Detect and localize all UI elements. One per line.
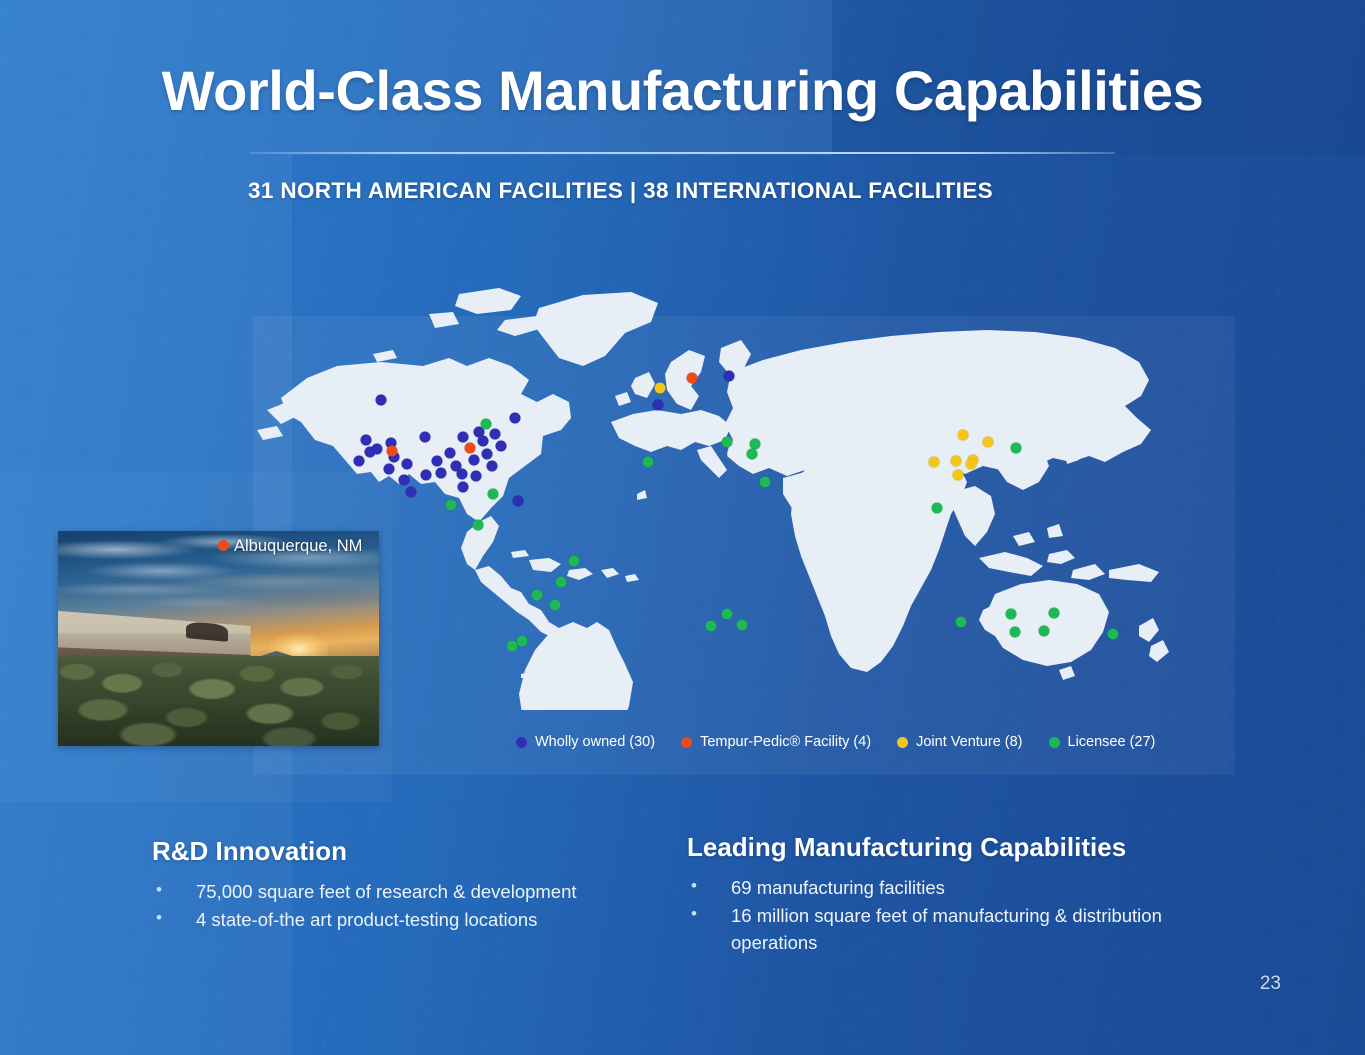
facility-dot <box>458 481 469 492</box>
manufacturing-capabilities-column: Leading Manufacturing Capabilities 69 ma… <box>687 832 1207 958</box>
facility-dot <box>747 449 758 460</box>
legend-item: Wholly owned (30) <box>516 734 655 750</box>
facility-dot <box>929 457 940 468</box>
facility-dot <box>387 445 398 456</box>
legend-swatch-icon <box>1049 737 1060 748</box>
legend-swatch-icon <box>681 737 692 748</box>
world-map-svg <box>253 270 1253 710</box>
photo-shrubs <box>58 651 379 746</box>
facility-dot <box>1039 625 1050 636</box>
facility-dot <box>488 488 499 499</box>
facility-dot <box>481 419 492 430</box>
facility-dot <box>722 437 733 448</box>
facility-dot <box>384 463 395 474</box>
page-number: 23 <box>1260 973 1281 995</box>
facility-dot <box>1010 627 1021 638</box>
list-item: 16 million square feet of manufacturing … <box>687 903 1207 956</box>
facility-dot <box>471 471 482 482</box>
facility-dot <box>724 370 735 381</box>
facility-dot <box>458 431 469 442</box>
facility-dot <box>517 636 528 647</box>
facility-dot <box>399 475 410 486</box>
facility-dot <box>722 609 733 620</box>
facility-dot <box>402 459 413 470</box>
facility-dot <box>951 455 962 466</box>
facility-dot <box>469 454 480 465</box>
photo-location-text: Albuquerque, NM <box>234 537 362 555</box>
facility-dot <box>953 470 964 481</box>
legend-label: Tempur-Pedic® Facility (4) <box>700 734 871 750</box>
facility-dot <box>406 486 417 497</box>
facility-dot <box>510 412 521 423</box>
facility-dot <box>568 556 579 567</box>
manufacturing-capabilities-bullets: 69 manufacturing facilities 16 million s… <box>687 875 1207 956</box>
facility-dot <box>706 620 717 631</box>
facility-dot <box>490 429 501 440</box>
list-item: 75,000 square feet of research & develop… <box>152 879 652 905</box>
map-legend: Wholly owned (30)Tempur-Pedic® Facility … <box>516 734 1155 750</box>
facility-dot <box>473 520 484 531</box>
list-item: 4 state-of-the art product-testing locat… <box>152 907 652 933</box>
facility-dot <box>457 468 468 479</box>
facility-dot <box>496 440 507 451</box>
legend-item: Tempur-Pedic® Facility (4) <box>681 734 871 750</box>
map-landmasses <box>257 288 1169 710</box>
facility-dot <box>376 394 387 405</box>
facility-dot <box>507 641 518 652</box>
rd-innovation-column: R&D Innovation 75,000 square feet of res… <box>152 836 652 936</box>
facility-dot <box>354 455 365 466</box>
facility-dot <box>556 577 567 588</box>
slide: World-Class Manufacturing Capabilities 3… <box>0 0 1365 1055</box>
list-item: 69 manufacturing facilities <box>687 875 1207 901</box>
facility-dot <box>487 460 498 471</box>
legend-label: Joint Venture (8) <box>916 734 1022 750</box>
location-pin-icon <box>218 540 229 551</box>
legend-label: Licensee (27) <box>1068 734 1156 750</box>
world-map <box>253 270 1253 710</box>
facility-dot <box>983 437 994 448</box>
facility-dot <box>513 495 524 506</box>
facility-dot <box>956 616 967 627</box>
facility-dot <box>550 600 561 611</box>
facility-dot <box>643 457 654 468</box>
title-divider <box>250 152 1115 154</box>
legend-label: Wholly owned (30) <box>535 734 655 750</box>
facility-dot <box>1108 628 1119 639</box>
facility-dot <box>760 477 771 488</box>
facility-dot <box>420 432 431 443</box>
facility-dot <box>655 382 666 393</box>
facility-dot <box>1049 607 1060 618</box>
legend-swatch-icon <box>516 737 527 748</box>
facility-dot <box>737 619 748 630</box>
manufacturing-capabilities-heading: Leading Manufacturing Capabilities <box>687 832 1207 863</box>
facility-photo <box>58 531 379 746</box>
facility-dot <box>1006 608 1017 619</box>
facility-dot <box>446 499 457 510</box>
rd-innovation-bullets: 75,000 square feet of research & develop… <box>152 879 652 934</box>
photo-location-label: Albuquerque, NM <box>218 537 362 556</box>
facility-dot <box>482 448 493 459</box>
facility-dot <box>436 467 447 478</box>
facility-dot <box>687 373 698 384</box>
facility-dot <box>361 434 372 445</box>
facility-dot <box>421 470 432 481</box>
facility-dot <box>432 455 443 466</box>
legend-swatch-icon <box>897 737 908 748</box>
facility-dot <box>372 443 383 454</box>
facility-dot <box>465 442 476 453</box>
legend-item: Joint Venture (8) <box>897 734 1022 750</box>
facility-dot <box>532 590 543 601</box>
facility-dot <box>478 436 489 447</box>
facility-dot <box>653 399 664 410</box>
facility-dot <box>958 430 969 441</box>
facility-dot <box>1011 443 1022 454</box>
facility-dot <box>966 459 977 470</box>
legend-item: Licensee (27) <box>1049 734 1156 750</box>
subtitle: 31 NORTH AMERICAN FACILITIES | 38 INTERN… <box>248 178 993 204</box>
facility-dot <box>445 448 456 459</box>
rd-innovation-heading: R&D Innovation <box>152 836 652 867</box>
page-title: World-Class Manufacturing Capabilities <box>0 58 1365 123</box>
facility-dot <box>932 503 943 514</box>
